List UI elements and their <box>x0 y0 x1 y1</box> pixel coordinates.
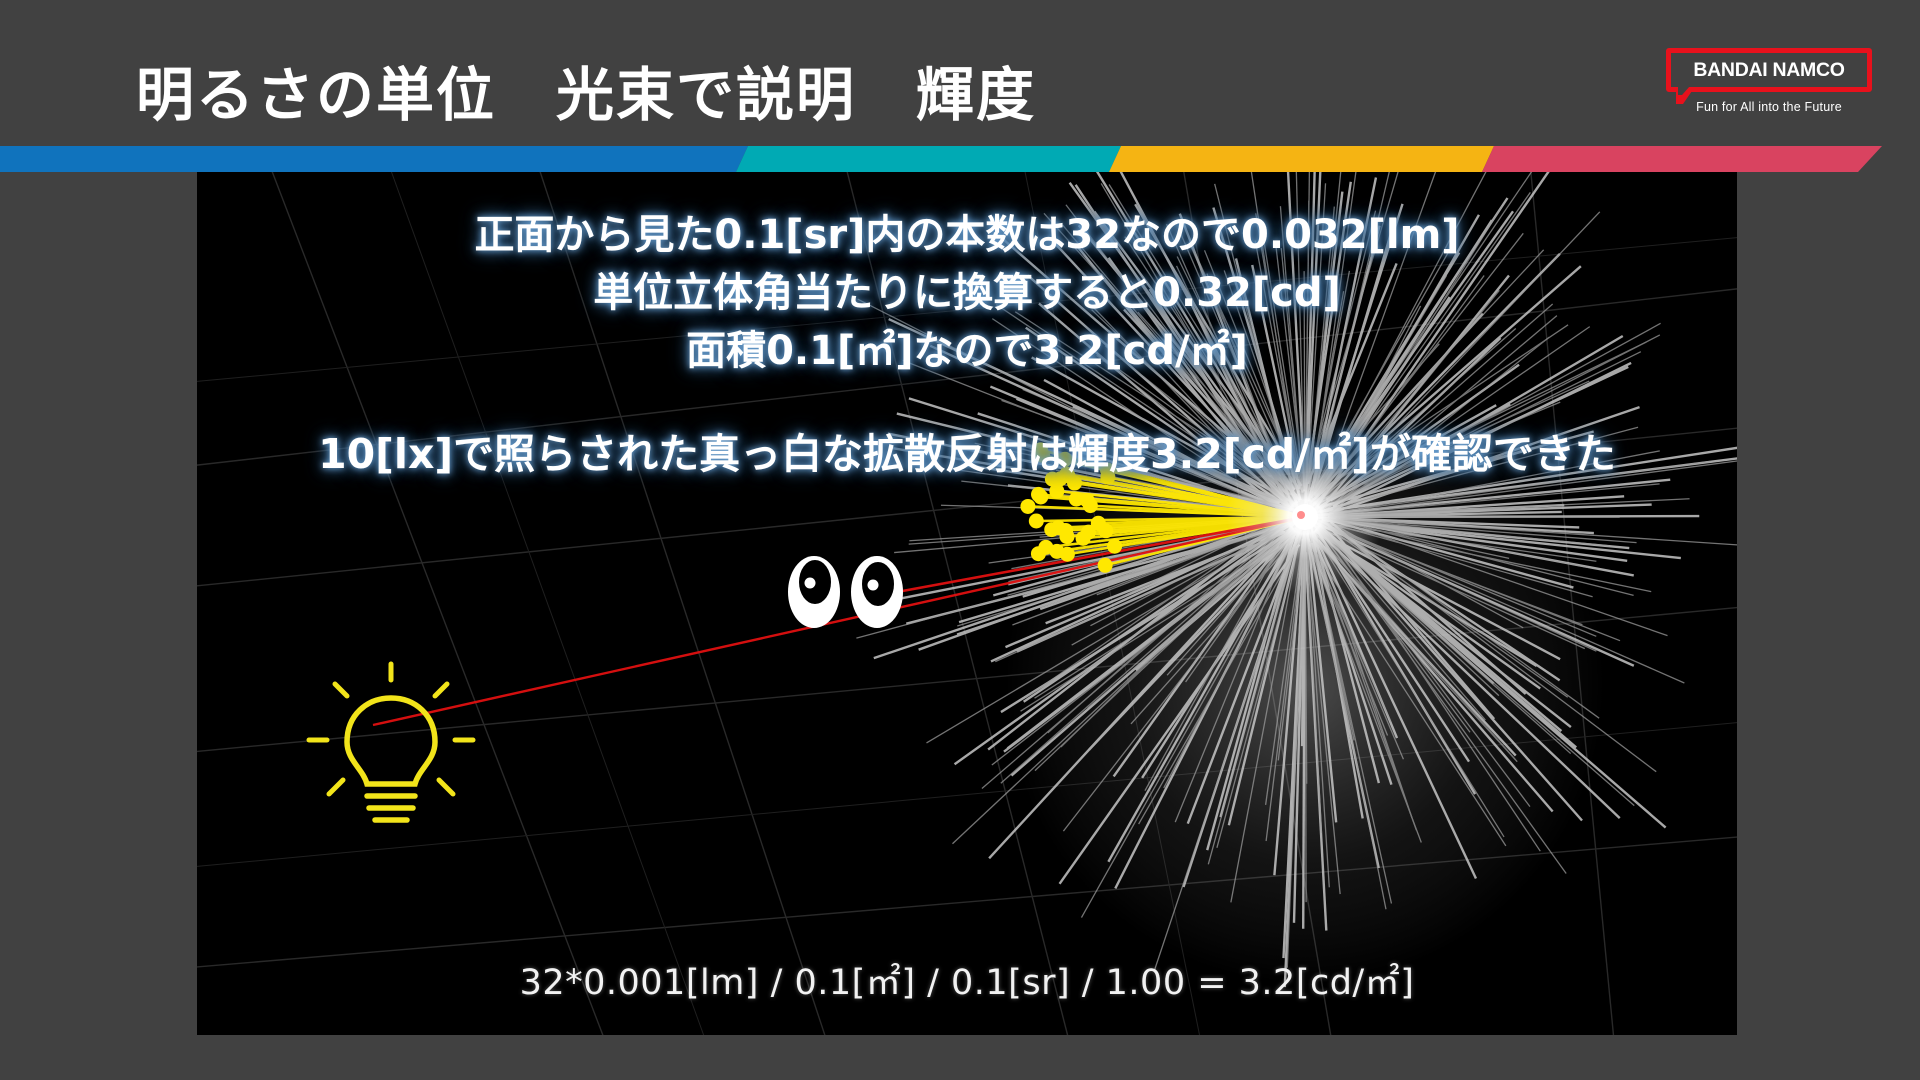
annotation-line-2: 単位立体角当たりに換算すると0.32[cd] <box>197 260 1737 318</box>
ray-endpoint-dot <box>1081 525 1096 540</box>
ray-endpoint-dot <box>1031 546 1046 561</box>
annotation-line-1: 正面から見た0.1[sr]内の本数は32なので0.032[lm] <box>197 202 1737 260</box>
eye-right-highlight <box>868 580 879 591</box>
stripe-segment-orange <box>1109 146 1494 172</box>
ray-endpoint-dot <box>1029 514 1044 529</box>
ray-endpoint-dot <box>1060 547 1075 562</box>
ray-endpoint-dot <box>1044 522 1059 537</box>
stripe-segment-blue <box>0 146 748 172</box>
ray-endpoint-dot <box>1069 492 1084 507</box>
ray-endpoint-dot <box>1020 499 1035 514</box>
ray-endpoint-dot <box>1059 529 1074 544</box>
logo-bubble: BANDAI NAMCO <box>1666 48 1872 92</box>
logo-tagline: Fun for All into the Future <box>1666 100 1872 114</box>
slide-header: 明るさの単位 光束で説明 輝度 BANDAI NAMCO Fun for All… <box>0 0 1920 150</box>
annotation-line-3: 面積0.1[㎡]なので3.2[cd/㎡] <box>197 318 1737 376</box>
diagram-viewport: 正面から見た0.1[sr]内の本数は32なので0.032[lm] 単位立体角当た… <box>197 172 1737 1035</box>
ray-endpoint-dot <box>1083 498 1098 513</box>
ray-endpoint-dot <box>1033 489 1048 504</box>
stripe-segment-pink <box>1482 146 1882 172</box>
bandai-namco-logo: BANDAI NAMCO Fun for All into the Future <box>1666 48 1872 120</box>
annotation-line-4: 10[lx]で照らされた真っ白な拡散反射は輝度3.2[cd/㎡]が確認できた <box>197 420 1737 480</box>
eye-left-highlight <box>805 578 816 589</box>
stripe-segment-teal <box>736 146 1121 172</box>
slide-root: 明るさの単位 光束で説明 輝度 BANDAI NAMCO Fun for All… <box>0 0 1920 1080</box>
surface-hotspot-tint <box>1297 511 1305 519</box>
logo-wordmark: BANDAI NAMCO <box>1693 59 1844 82</box>
page-title: 明るさの単位 光束で説明 輝度 <box>136 48 1036 132</box>
logo-tail-inner-icon <box>1678 86 1690 95</box>
ray-endpoint-dot <box>1098 558 1113 573</box>
accent-stripe <box>0 146 1920 172</box>
ray-endpoint-dot <box>1107 539 1122 554</box>
formula-text: 32*0.001[lm] / 0.1[㎡] / 0.1[sr] / 1.00 =… <box>197 954 1737 1005</box>
surface-hotspot-core <box>1292 504 1318 530</box>
